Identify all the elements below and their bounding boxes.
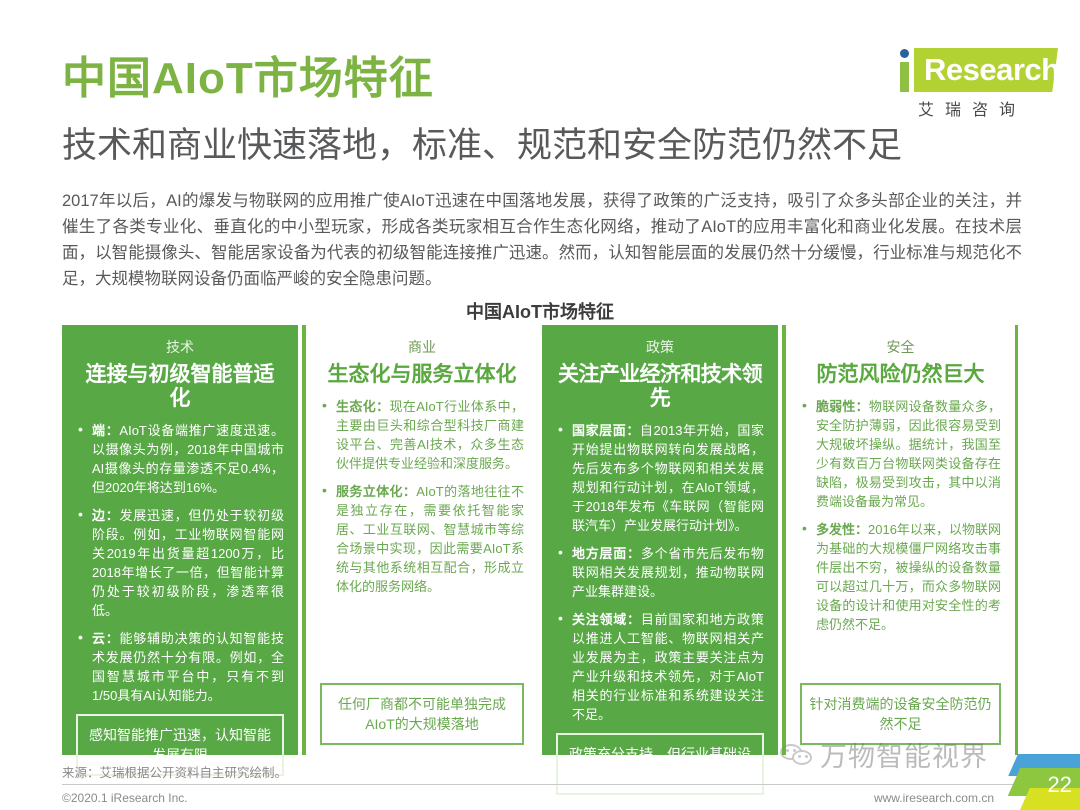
bullet-lead: 生态化：	[336, 399, 390, 414]
column-policy: 政策 关注产业经济和技术领先 国家层面：自2013年开始，国家开始提出物联网转向…	[542, 325, 778, 755]
column-technology: 技术 连接与初级智能普适化 端：AIoT设备端推广速度迅速。以摄像头为例，201…	[62, 325, 298, 755]
source-note: 来源：艾瑞根据公开资料自主研究绘制。	[62, 762, 287, 781]
column-headline: 连接与初级智能普适化	[76, 363, 284, 411]
bullet-text: AIoT设备端推广速度迅速。以摄像头为例，2018年中国城市AI摄像头的存量渗透…	[92, 423, 284, 495]
column-bullet-list: 脆弱性：物联网设备数量众多，安全防护薄弱，因此很容易受到大规破坏操纵。据统计，我…	[800, 397, 1001, 683]
list-item: 国家层面：自2013年开始，国家开始提出物联网转向发展战略，先后发布多个物联网和…	[556, 421, 764, 535]
column-headline: 生态化与服务立体化	[320, 363, 524, 387]
bullet-lead: 关注领域：	[572, 612, 641, 627]
list-item: 生态化：现在AIoT行业体系中，主要由巨头和综合型科技厂商建设平台、完善AI技术…	[320, 397, 524, 473]
bullet-lead: 边：	[92, 508, 120, 523]
bullet-text: 物联网设备数量众多，安全防护薄弱，因此很容易受到大规破坏操纵。据统计，我国至少有…	[816, 399, 1001, 509]
bullet-text: AIoT的落地往往不是独立存在，需要依托智能家居、工业互联网、智慧城市等综合场景…	[336, 484, 524, 594]
logo-dot-icon	[900, 49, 909, 58]
wechat-dot	[786, 749, 789, 752]
wechat-icon	[780, 742, 814, 768]
bullet-lead: 国家层面：	[572, 423, 640, 438]
wechat-bubble-small	[792, 750, 812, 765]
page-number: 22	[1048, 772, 1072, 798]
iresearch-logo: Research 艾瑞咨询	[888, 42, 1058, 122]
list-item: 多发性：2016年以来，以物联网为基础的大规模僵尸网络攻击事件层出不穷，被操纵的…	[800, 520, 1001, 634]
list-item: 服务立体化：AIoT的落地往往不是独立存在，需要依托智能家居、工业互联网、智慧城…	[320, 482, 524, 596]
lead-paragraph: 2017年以后，AI的爆发与物联网的应用推广使AIoT迅速在中国落地发展，获得了…	[62, 188, 1022, 292]
logo-mark: Research	[888, 42, 1058, 94]
list-item: 边：发展迅速，但仍处于较初级阶段。例如，工业物联网智能网关2019年出货量超12…	[76, 506, 284, 620]
list-item: 端：AIoT设备端推广速度迅速。以摄像头为例，2018年中国城市AI摄像头的存量…	[76, 421, 284, 497]
chart-title: 中国AIoT市场特征	[0, 298, 1080, 324]
bullet-text: 2016年以来，以物联网为基础的大规模僵尸网络攻击事件层出不穷，被操纵的设备数量…	[816, 522, 1001, 632]
column-category: 安全	[800, 337, 1001, 357]
bullet-lead: 地方层面：	[572, 546, 641, 561]
logo-chinese-name: 艾瑞咨询	[918, 96, 1026, 120]
wechat-dot	[798, 755, 801, 758]
column-conclusion: 政策充分支持，但行业基础设施建设仍然不足	[556, 733, 764, 795]
bullet-text: 目前国家和地方政策以推进人工智能、物联网相关产业发展为主，政策主要关注点为产业升…	[572, 612, 764, 722]
bullet-lead: 云：	[92, 631, 120, 646]
column-category: 政策	[556, 337, 764, 357]
slide-page: 中国AIoT市场特征 技术和商业快速落地，标准、规范和安全防范仍然不足 Rese…	[0, 0, 1080, 810]
bullet-lead: 端：	[92, 423, 119, 438]
column-business: 商业 生态化与服务立体化 生态化：现在AIoT行业体系中，主要由巨头和综合型科技…	[302, 325, 538, 755]
list-item: 关注领域：目前国家和地方政策以推进人工智能、物联网相关产业发展为主，政策主要关注…	[556, 610, 764, 724]
page-subtitle: 技术和商业快速落地，标准、规范和安全防范仍然不足	[62, 125, 902, 167]
watermark-text: 万物智能视界	[820, 735, 988, 774]
bullet-text: 能够辅助决策的认知智能技术发展仍然十分有限。例如，全国智慧城市平台中，只有不到1…	[92, 631, 284, 703]
list-item: 脆弱性：物联网设备数量众多，安全防护薄弱，因此很容易受到大规破坏操纵。据统计，我…	[800, 397, 1001, 511]
column-bullet-list: 端：AIoT设备端推广速度迅速。以摄像头为例，2018年中国城市AI摄像头的存量…	[76, 421, 284, 714]
bullet-lead: 多发性：	[816, 522, 868, 537]
copyright-text: ©2020.1 iResearch Inc.	[62, 791, 188, 805]
column-headline: 防范风险仍然巨大	[800, 363, 1001, 387]
column-bullet-list: 生态化：现在AIoT行业体系中，主要由巨头和综合型科技厂商建设平台、完善AI技术…	[320, 397, 524, 683]
column-category: 技术	[76, 337, 284, 357]
watermark: 万物智能视界	[780, 735, 988, 774]
wechat-dot	[793, 749, 796, 752]
bullet-lead: 服务立体化：	[336, 484, 416, 499]
page-title: 中国AIoT市场特征	[62, 55, 434, 103]
column-conclusion: 任何厂商都不可能单独完成AIoT的大规模落地	[320, 683, 524, 745]
footer-divider	[62, 784, 1018, 785]
column-bullet-list: 国家层面：自2013年开始，国家开始提出物联网转向发展战略，先后发布多个物联网和…	[556, 421, 764, 733]
list-item: 地方层面：多个省市先后发布物联网相关发展规划，推动物联网产业集群建设。	[556, 544, 764, 601]
bullet-lead: 脆弱性：	[816, 399, 869, 414]
website-link[interactable]: www.iresearch.com.cn	[874, 791, 994, 805]
logo-wordmark: Research	[924, 52, 1060, 88]
column-category: 商业	[320, 337, 524, 357]
wechat-dot	[805, 755, 808, 758]
column-headline: 关注产业经济和技术领先	[556, 363, 764, 411]
bullet-text: 发展迅速，但仍处于较初级阶段。例如，工业物联网智能网关2019年出货量超1200…	[92, 508, 284, 618]
list-item: 云：能够辅助决策的认知智能技术发展仍然十分有限。例如，全国智慧城市平台中，只有不…	[76, 629, 284, 705]
feature-columns: 技术 连接与初级智能普适化 端：AIoT设备端推广速度迅速。以摄像头为例，201…	[62, 325, 1018, 755]
logo-i-bar	[900, 62, 909, 92]
bullet-text: 自2013年开始，国家开始提出物联网转向发展战略，先后发布多个物联网和相关发展规…	[572, 423, 764, 533]
column-security: 安全 防范风险仍然巨大 脆弱性：物联网设备数量众多，安全防护薄弱，因此很容易受到…	[782, 325, 1018, 755]
